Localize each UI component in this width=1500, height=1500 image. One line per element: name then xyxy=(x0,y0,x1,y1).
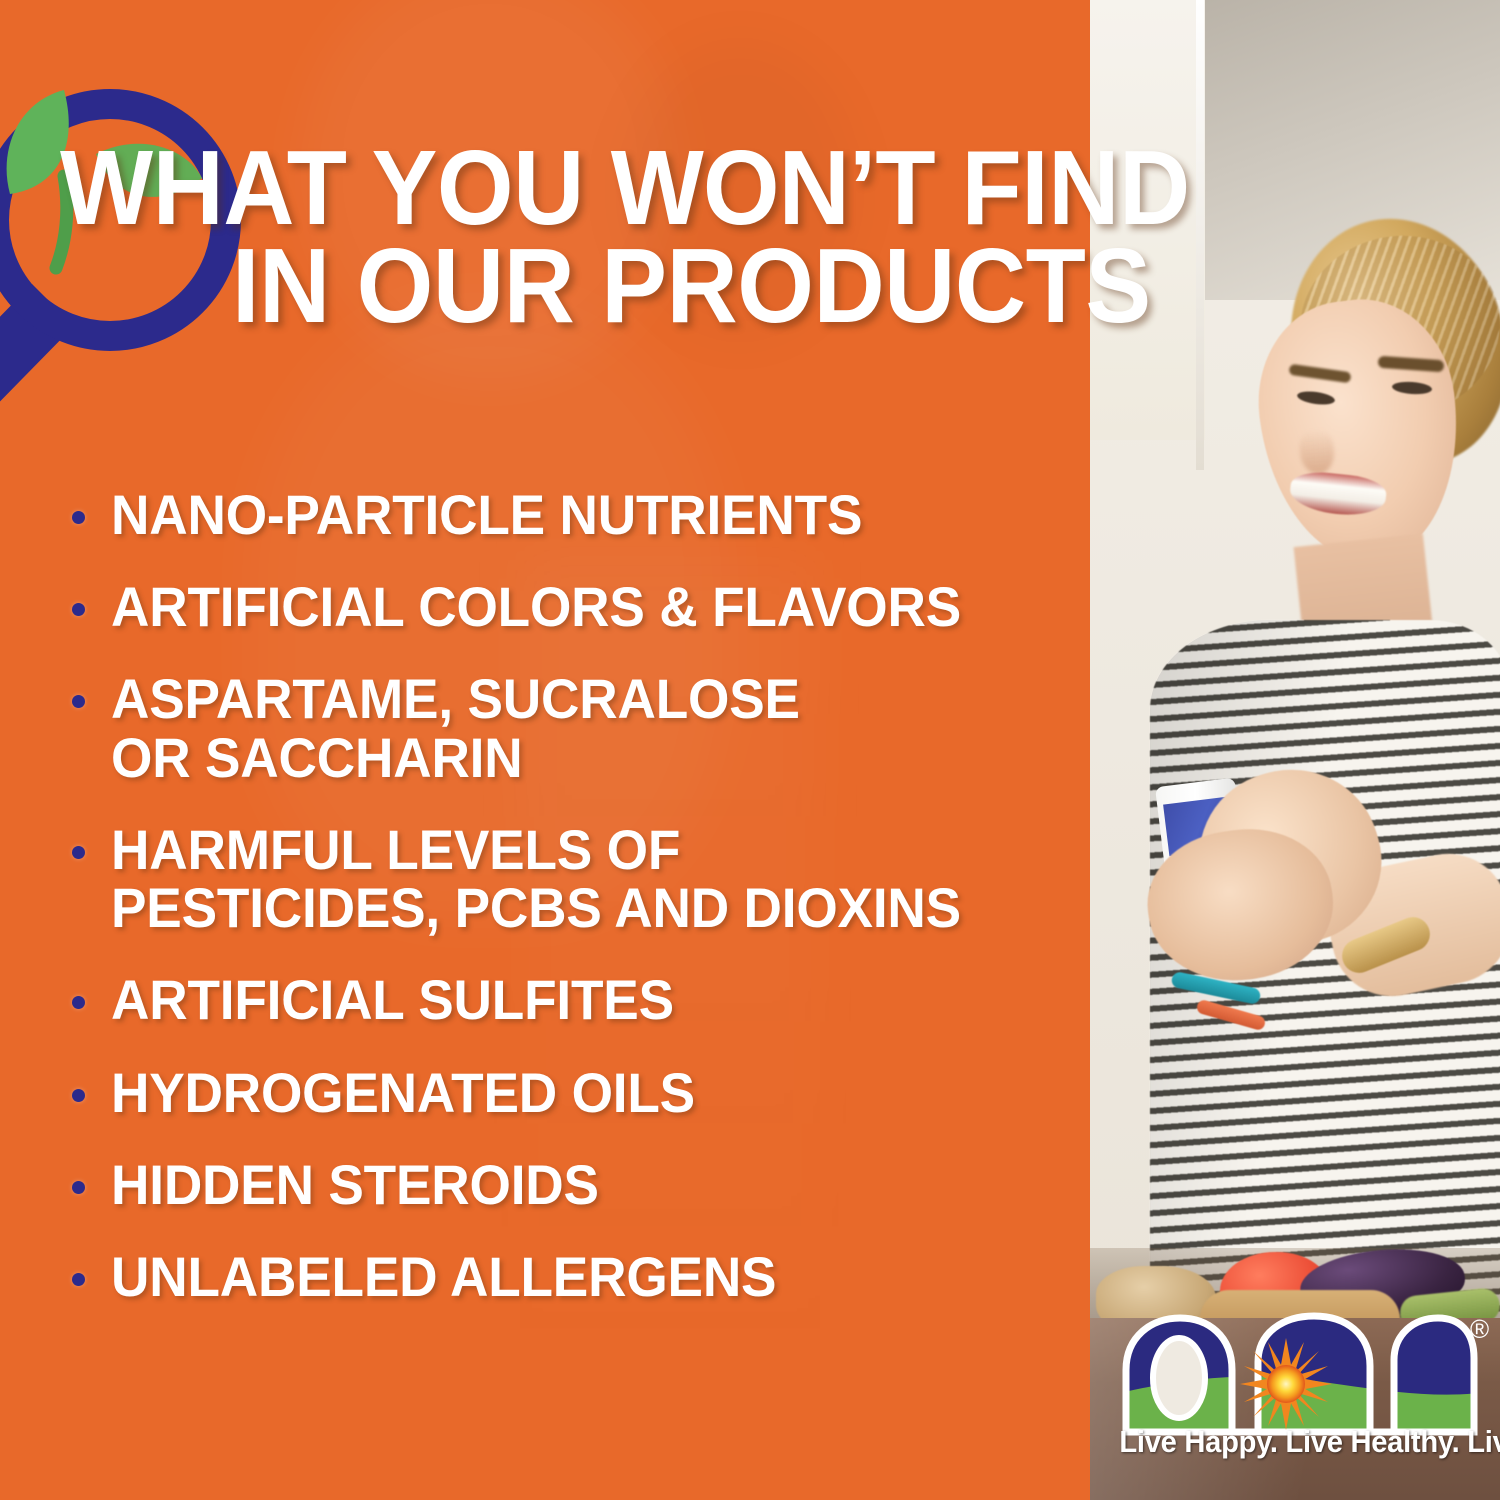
list-item-label: ARTIFICIAL COLORS & FLAVORS xyxy=(111,578,961,636)
trademark-symbol: ® xyxy=(1470,1314,1489,1344)
bullet-dot-icon xyxy=(72,603,85,616)
list-item-label: HIDDEN STEROIDS xyxy=(111,1156,599,1214)
bullet-dot-icon xyxy=(72,511,85,524)
sunburst-icon xyxy=(1240,1338,1332,1430)
list-item: HARMFUL LEVELS OF PESTICIDES, PCBS AND D… xyxy=(72,821,1082,937)
sun-core xyxy=(1267,1365,1305,1403)
list-item-label: HARMFUL LEVELS OF PESTICIDES, PCBS AND D… xyxy=(111,821,961,937)
list-item-label: ARTIFICIAL SULFITES xyxy=(111,971,674,1029)
list-item: HYDROGENATED OILS xyxy=(72,1064,1082,1122)
list-item: UNLABELED ALLERGENS xyxy=(72,1248,1082,1306)
list-item: ARTIFICIAL SULFITES xyxy=(72,971,1082,1029)
list-item-label: HYDROGENATED OILS xyxy=(111,1064,695,1122)
bullet-dot-icon xyxy=(72,695,85,708)
list-item: ASPARTAME, SUCRALOSE OR SACCHARIN xyxy=(72,670,1082,786)
bullet-dot-icon xyxy=(72,996,85,1009)
list-item: ARTIFICIAL COLORS & FLAVORS xyxy=(72,578,1082,636)
list-item-label: NANO-PARTICLE NUTRIENTS xyxy=(111,486,862,544)
bullet-dot-icon xyxy=(72,1273,85,1286)
list-item: HIDDEN STEROIDS xyxy=(72,1156,1082,1214)
list-item-label: ASPARTAME, SUCRALOSE OR SACCHARIN xyxy=(111,670,800,786)
headline-line-1: WHAT YOU WON’T FIND xyxy=(60,140,1362,238)
infographic-canvas: WHAT YOU WON’T FIND IN OUR PRODUCTS NANO… xyxy=(0,0,1500,1500)
list-item-label: UNLABELED ALLERGENS xyxy=(111,1248,776,1306)
exclusion-list: NANO-PARTICLE NUTRIENTS ARTIFICIAL COLOR… xyxy=(72,486,1082,1340)
page-title: WHAT YOU WON’T FIND IN OUR PRODUCTS xyxy=(60,140,1460,335)
bullet-dot-icon xyxy=(72,1089,85,1102)
bullet-dot-icon xyxy=(72,1181,85,1194)
list-item: NANO-PARTICLE NUTRIENTS xyxy=(72,486,1082,544)
headline-line-2: IN OUR PRODUCTS xyxy=(60,238,1362,336)
brand-tagline: Live Happy. Live Healthy. Live NOW. xyxy=(1119,1424,1476,1460)
bullet-dot-icon xyxy=(72,846,85,859)
